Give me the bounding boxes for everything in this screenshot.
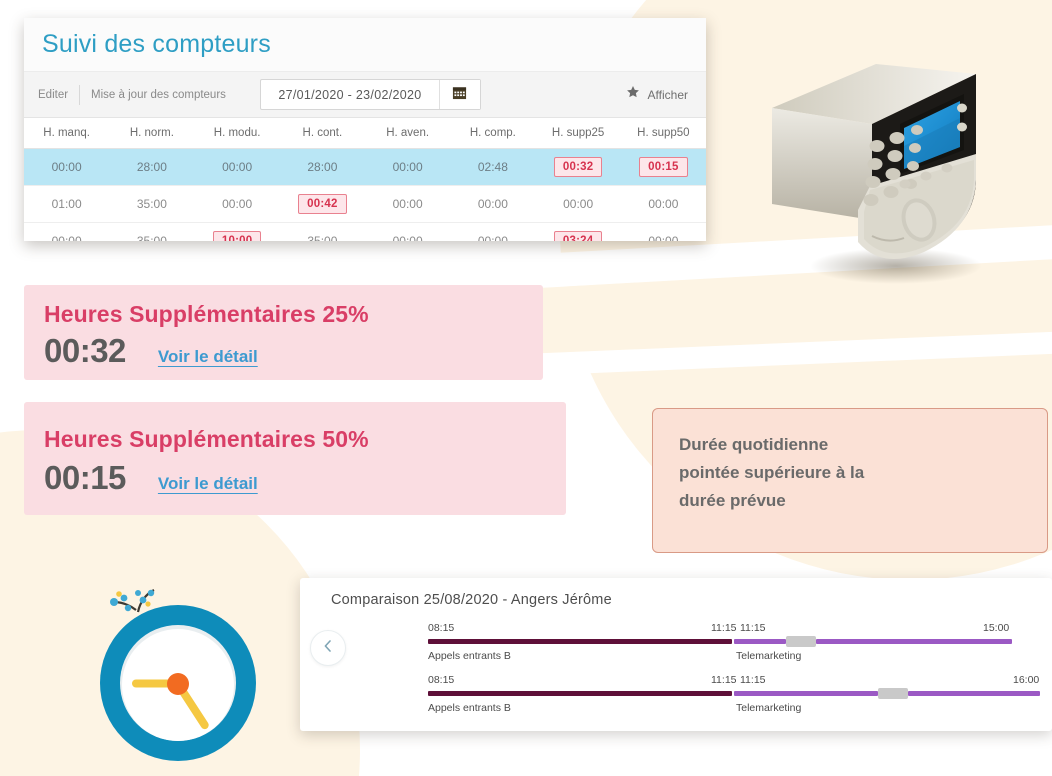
view-detail-link[interactable]: Voir le détail (158, 474, 258, 494)
kpi-value: 00:32 (44, 332, 126, 370)
cell-value: 35:00 (307, 234, 337, 241)
cell: 00:00 (621, 186, 706, 223)
activity-label-2: Telemarketing (736, 702, 801, 714)
col-h-supp25: H. supp25 (536, 118, 621, 149)
flag-chip: 03:24 (554, 231, 602, 241)
cell-value: 00:00 (393, 234, 423, 241)
toolbar-divider (79, 85, 80, 105)
kpi-title: Heures Supplémentaires 25% (44, 301, 523, 328)
col-h-cont: H. cont. (280, 118, 365, 149)
timeline-labels: Appels entrants B Telemarketing (428, 702, 1028, 718)
table-header-row: H. manq. H. norm. H. modu. H. cont. H. a… (24, 118, 706, 149)
cell: 00:00 (24, 149, 109, 186)
segment-appels-entrants[interactable] (428, 639, 732, 644)
time-mid-start: 11:15 (740, 622, 766, 634)
timeline-times: 08:15 11:15 11:15 15:00 (428, 622, 1028, 636)
segment-appels-entrants[interactable] (428, 691, 732, 696)
col-h-comp: H. comp. (450, 118, 535, 149)
col-h-norm: H. norm. (109, 118, 194, 149)
timeline-labels: Appels entrants B Telemarketing (428, 650, 1028, 666)
panel-toolbar: Editer Mise à jour des compteurs 27/01/2… (24, 72, 706, 118)
activity-label-2: Telemarketing (736, 650, 801, 662)
previous-button[interactable] (310, 630, 346, 666)
activity-label-1: Appels entrants B (428, 702, 511, 714)
kpi-card-overtime-50: Heures Supplémentaires 50% 00:15 Voir le… (24, 402, 566, 515)
callout-line-2: pointée supérieure à la (679, 459, 1021, 487)
page-title: Suivi des compteurs (42, 30, 271, 59)
cell: 00:00 (536, 186, 621, 223)
callout-line-3: durée prévue (679, 487, 1021, 515)
cell-value: 00:00 (52, 234, 82, 241)
edit-button[interactable]: Editer (38, 89, 79, 101)
cell-value: 28:00 (307, 160, 337, 174)
kpi-row: 00:32 Voir le détail (44, 332, 523, 370)
callout-line-1: Durée quotidienne (679, 431, 1021, 459)
kpi-row: 00:15 Voir le détail (44, 459, 546, 497)
kpi-card-overtime-25: Heures Supplémentaires 25% 00:32 Voir le… (24, 285, 543, 380)
cell: 28:00 (109, 149, 194, 186)
view-detail-link[interactable]: Voir le détail (158, 347, 258, 367)
cell: 35:00 (280, 223, 365, 242)
time-mid-end: 11:15 (711, 622, 737, 634)
cell-value: 00:00 (52, 160, 82, 174)
panel-header: Suivi des compteurs (24, 18, 706, 72)
cell: 00:00 (621, 223, 706, 242)
cell-value: 00:00 (648, 197, 678, 211)
segment-telemarketing-a[interactable] (734, 639, 786, 644)
segment-telemarketing-b[interactable] (908, 691, 1040, 696)
time-clock-terminal-illustration (758, 28, 1018, 296)
time-end: 15:00 (983, 622, 1009, 634)
flag-chip: 00:32 (554, 157, 602, 177)
chevron-left-icon (323, 639, 333, 657)
segment-break[interactable] (878, 688, 908, 699)
cell-value: 01:00 (52, 197, 82, 211)
segment-telemarketing-b[interactable] (816, 639, 1012, 644)
cell-flagged: 00:15 (621, 149, 706, 186)
update-counters-label[interactable]: Mise à jour des compteurs (91, 89, 226, 101)
time-mid-end: 11:15 (711, 674, 737, 686)
cell: 00:00 (24, 223, 109, 242)
cell: 35:00 (109, 186, 194, 223)
cell: 02:48 (450, 149, 535, 186)
show-control[interactable]: Afficher (626, 85, 692, 104)
cell-value: 02:48 (478, 160, 508, 174)
page-root: Suivi des compteurs Editer Mise à jour d… (0, 0, 1052, 776)
cell-flagged: 00:32 (536, 149, 621, 186)
comparison-panel: Comparaison 25/08/2020 - Angers Jérôme 0… (300, 578, 1052, 731)
cell-flagged: 03:24 (536, 223, 621, 242)
timeline-bar[interactable] (428, 639, 1028, 644)
cell-value: 35:00 (137, 234, 167, 241)
cell: 35:00 (109, 223, 194, 242)
cell-value: 28:00 (137, 160, 167, 174)
cell: 01:00 (24, 186, 109, 223)
segment-break[interactable] (786, 636, 816, 647)
cell: 00:00 (365, 149, 450, 186)
wall-clock-illustration (88, 588, 268, 768)
table-row[interactable]: 00:00 35:00 10:00 35:00 00:00 00:00 03:2… (24, 223, 706, 242)
flag-chip: 00:15 (639, 157, 687, 177)
calendar-icon (452, 85, 467, 105)
cell: 00:00 (450, 186, 535, 223)
date-range-picker[interactable]: 27/01/2020 - 23/02/2020 (260, 79, 481, 110)
col-h-aven: H. aven. (365, 118, 450, 149)
cell-value: 35:00 (137, 197, 167, 211)
table-row[interactable]: 00:00 28:00 00:00 28:00 00:00 02:48 00:3… (24, 149, 706, 186)
col-h-manq: H. manq. (24, 118, 109, 149)
counters-table: H. manq. H. norm. H. modu. H. cont. H. a… (24, 118, 706, 241)
cell-flagged: 00:42 (280, 186, 365, 223)
time-start: 08:15 (428, 674, 454, 686)
calendar-button[interactable] (439, 80, 480, 109)
time-end: 16:00 (1013, 674, 1039, 686)
cell-value: 00:00 (478, 197, 508, 211)
show-label[interactable]: Afficher (648, 88, 688, 102)
cell: 00:00 (195, 186, 280, 223)
col-h-modu: H. modu. (195, 118, 280, 149)
time-mid-start: 11:15 (740, 674, 766, 686)
timeline-times: 08:15 11:15 11:15 16:00 (428, 674, 1028, 688)
cell-flagged: 10:00 (195, 223, 280, 242)
cell-value: 00:00 (222, 197, 252, 211)
star-icon (626, 85, 640, 104)
activity-label-1: Appels entrants B (428, 650, 511, 662)
time-start: 08:15 (428, 622, 454, 634)
cell: 00:00 (450, 223, 535, 242)
comparison-title: Comparaison 25/08/2020 - Angers Jérôme (331, 592, 612, 608)
flag-chip: 00:42 (298, 194, 346, 214)
cell: 28:00 (280, 149, 365, 186)
cell: 00:00 (365, 186, 450, 223)
cell-value: 00:00 (563, 197, 593, 211)
table-row[interactable]: 01:00 35:00 00:00 00:42 00:00 00:00 00:0… (24, 186, 706, 223)
callout-box: Durée quotidienne pointée supérieure à l… (652, 408, 1048, 553)
cell-value: 00:00 (648, 234, 678, 241)
timeline-row: 08:15 11:15 11:15 16:00 Appels entrants … (428, 674, 1028, 718)
cell: 00:00 (365, 223, 450, 242)
cell-value: 00:00 (222, 160, 252, 174)
segment-telemarketing-a[interactable] (734, 691, 878, 696)
kpi-title: Heures Supplémentaires 50% (44, 426, 546, 453)
timeline-bar[interactable] (428, 691, 1028, 696)
cell-value: 00:00 (478, 234, 508, 241)
col-h-supp50: H. supp50 (621, 118, 706, 149)
cell-value: 00:00 (393, 197, 423, 211)
date-range-input[interactable]: 27/01/2020 - 23/02/2020 (261, 80, 439, 109)
timeline-row: 08:15 11:15 11:15 15:00 Appels entrants … (428, 622, 1028, 666)
cell: 00:00 (195, 149, 280, 186)
counters-panel: Suivi des compteurs Editer Mise à jour d… (24, 18, 706, 241)
flag-chip: 10:00 (213, 231, 261, 241)
kpi-value: 00:15 (44, 459, 126, 497)
cell-value: 00:00 (393, 160, 423, 174)
